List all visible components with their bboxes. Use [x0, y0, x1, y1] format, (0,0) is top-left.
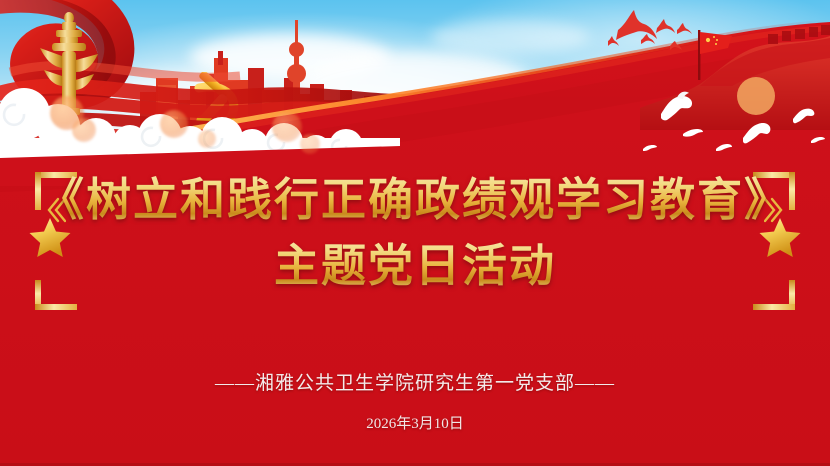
- red-bird-icon: [607, 34, 619, 52]
- bokeh-glow: [198, 130, 216, 148]
- white-dove-icon: [655, 90, 699, 129]
- red-bird-icon: [640, 32, 655, 50]
- bokeh-glow: [160, 110, 188, 138]
- title-line-1: 《树立和践行正确政绩观学习教育》: [0, 174, 830, 227]
- date-label: 2026年3月10日: [0, 412, 830, 433]
- bokeh-glow: [300, 134, 320, 154]
- bokeh-glow: [272, 112, 302, 142]
- white-dove-icon: [810, 132, 826, 150]
- red-bird-icon: [669, 38, 682, 56]
- subtitle-organization: ——湘雅公共卫生学院研究生第一党支部——: [0, 368, 830, 395]
- white-dove-icon: [682, 126, 704, 144]
- slide-canvas: 《树立和践行正确政绩观学习教育》 主题党日活动 ——湘雅公共卫生学院研究生第一党…: [0, 0, 830, 466]
- red-bird-icon: [655, 18, 675, 39]
- title-line-2: 主题党日活动: [0, 240, 830, 293]
- white-dove-icon: [642, 140, 658, 158]
- title-block: 《树立和践行正确政绩观学习教育》 主题党日活动: [0, 168, 830, 318]
- white-dove-icon: [738, 118, 776, 151]
- bokeh-glow: [72, 118, 96, 142]
- white-dove-icon: [790, 104, 818, 131]
- white-dove-icon: [715, 140, 733, 158]
